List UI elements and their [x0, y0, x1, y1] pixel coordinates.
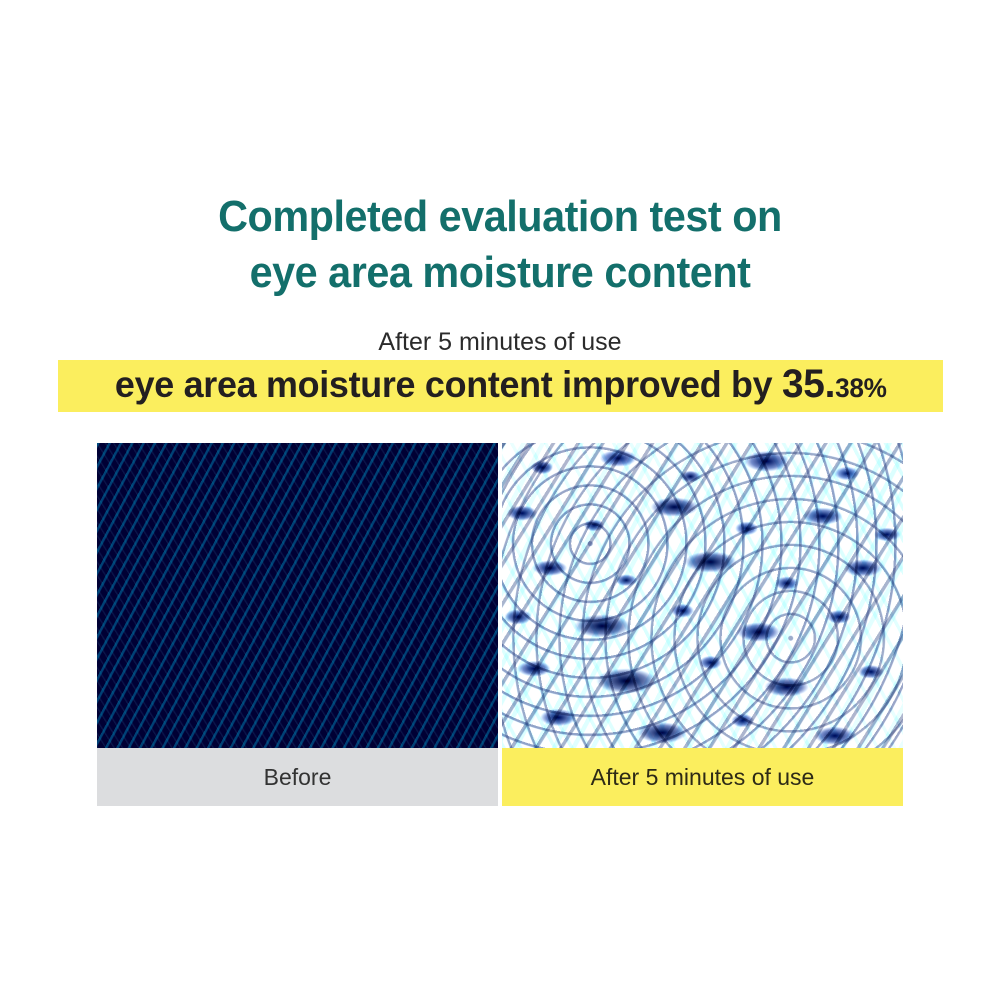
subtitle-text: After 5 minutes of use [0, 327, 1000, 358]
highlight-banner: eye area moisture content improved by 35… [58, 360, 943, 412]
improvement-value-minor: 38% [835, 373, 887, 403]
before-after-comparison: Before After 5 minutes of use [97, 443, 903, 806]
promo-infographic: Completed evaluation test on eye area mo… [0, 0, 1000, 1000]
highlight-prefix: eye area moisture content improved by [115, 364, 782, 405]
comparison-captions: Before After 5 minutes of use [97, 748, 903, 806]
after-image [502, 443, 903, 748]
highlight-statement: eye area moisture content improved by 35… [115, 364, 887, 408]
improvement-value-major: 35. [782, 362, 835, 406]
page-title-line-2: eye area moisture content [30, 245, 970, 301]
comparison-images [97, 443, 903, 748]
page-title-line-1: Completed evaluation test on [30, 189, 970, 245]
before-image [97, 443, 498, 748]
page-title: Completed evaluation test on eye area mo… [30, 189, 970, 301]
after-caption: After 5 minutes of use [502, 748, 903, 806]
before-caption: Before [97, 748, 498, 806]
